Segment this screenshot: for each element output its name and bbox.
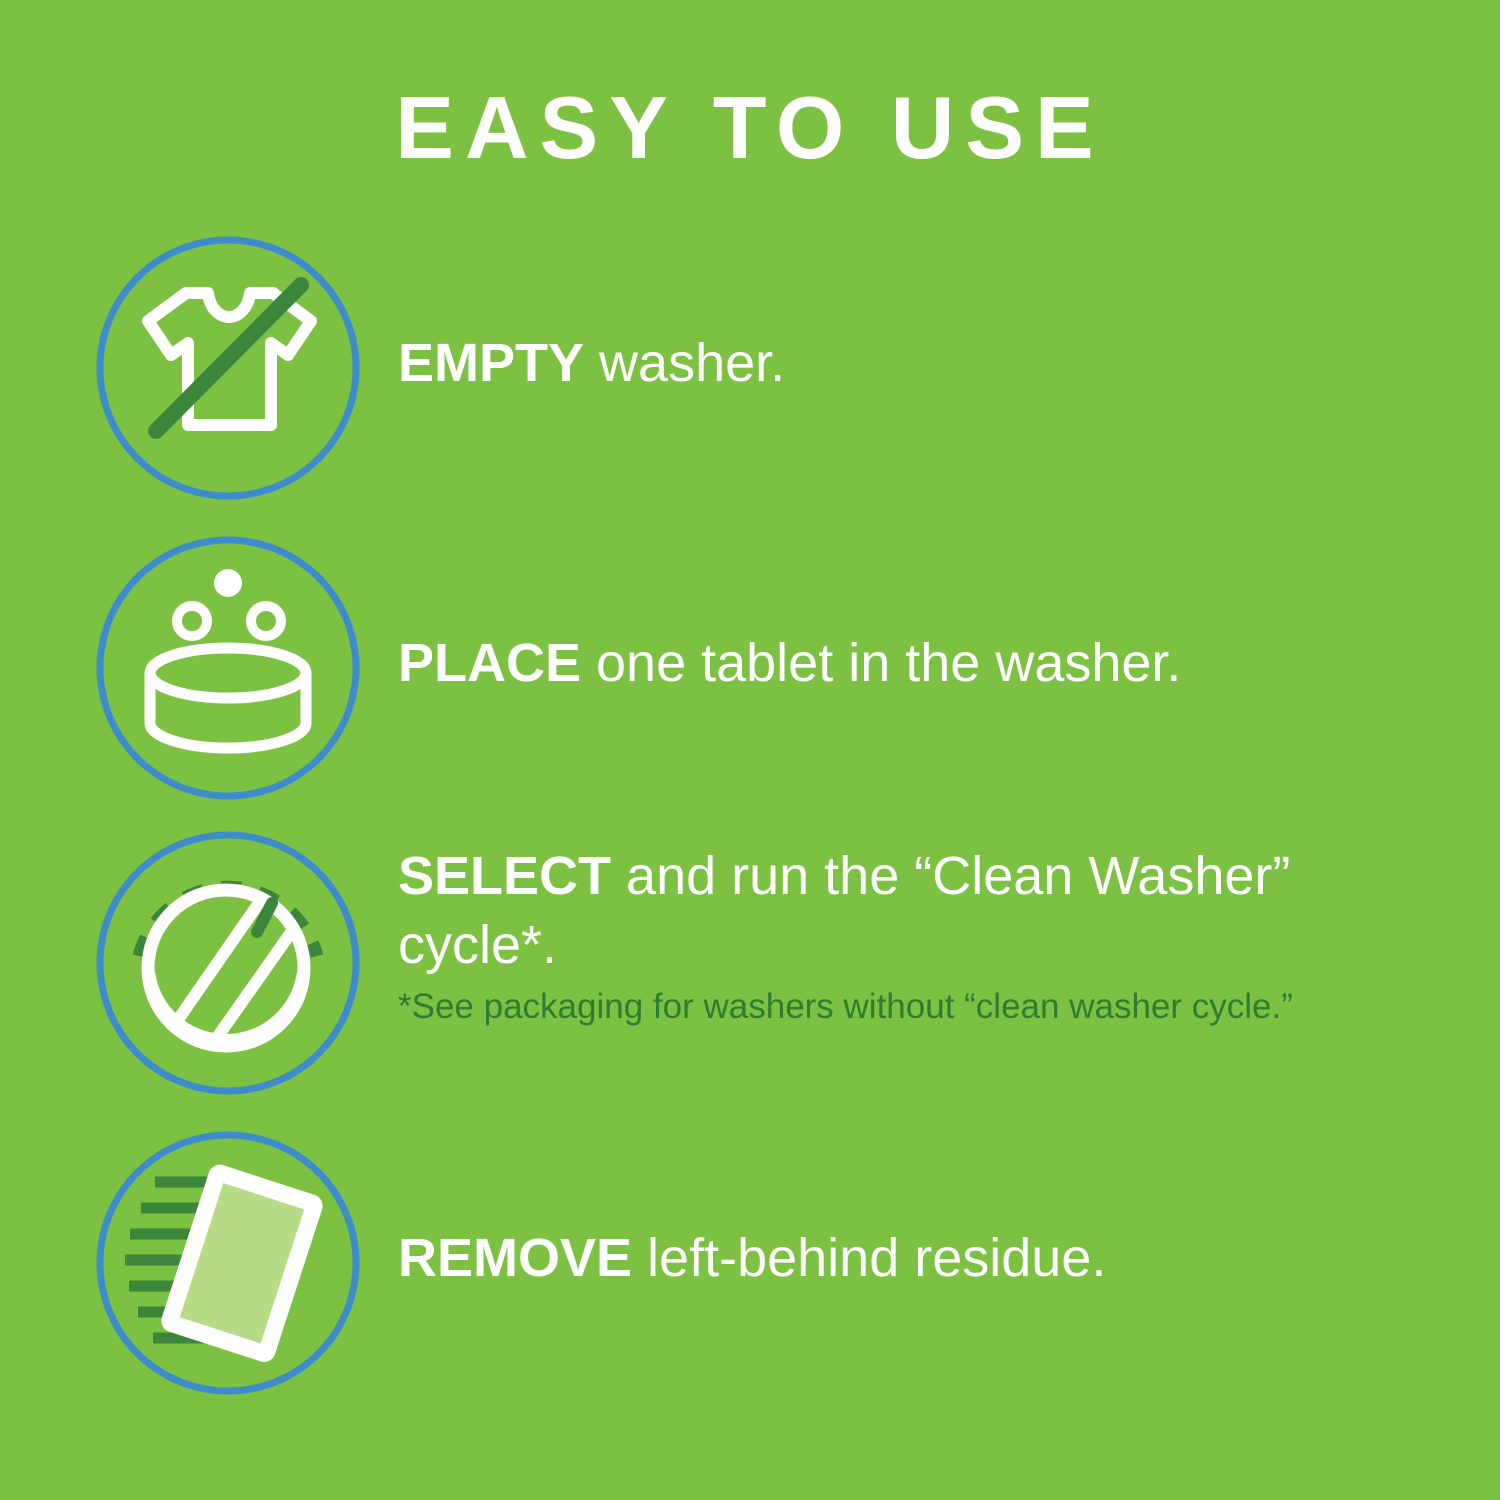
step-text-block: SELECT and run the “Clean Washer” cycle*…	[398, 842, 1458, 1029]
easy-to-use-infographic: EASY TO USE EMPTY washer.	[0, 0, 1500, 1500]
step-rest: washer.	[584, 333, 785, 393]
step-keyword: EMPTY	[398, 333, 584, 393]
step-keyword: PLACE	[398, 633, 581, 693]
step-text-block: PLACE one tablet in the washer.	[398, 629, 1458, 698]
dial-tablet-icon	[93, 828, 363, 1098]
wipe-pad	[169, 1172, 315, 1354]
no-shirt-icon	[93, 233, 363, 503]
step-text-block: EMPTY washer.	[398, 329, 1458, 398]
step-rest: one tablet in the washer.	[581, 633, 1181, 693]
step-footnote: *See packaging for washers without “clea…	[398, 986, 1298, 1029]
wipe-residue-icon	[93, 1128, 363, 1398]
step-keyword: SELECT	[398, 846, 611, 906]
bubble-filled	[214, 569, 242, 597]
step-line: PLACE one tablet in the washer.	[398, 629, 1458, 698]
bubble-ring-left	[177, 606, 207, 636]
bubble-ring-right	[251, 606, 281, 636]
step-rest: left-behind residue.	[632, 1228, 1106, 1288]
tablet-with-bubbles-icon	[93, 533, 363, 803]
step-text-block: REMOVE left-behind residue.	[398, 1224, 1458, 1293]
step-keyword: REMOVE	[398, 1228, 632, 1288]
step-line: REMOVE left-behind residue.	[398, 1224, 1458, 1293]
step-line: EMPTY washer.	[398, 329, 1458, 398]
page-title: EASY TO USE	[0, 82, 1500, 174]
step-line: SELECT and run the “Clean Washer” cycle*…	[398, 842, 1458, 980]
